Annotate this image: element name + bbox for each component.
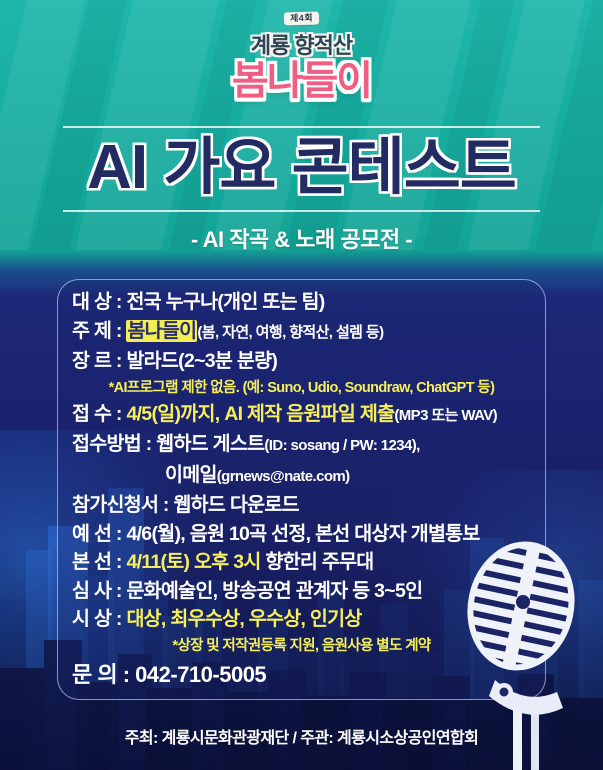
detail-value: 문화예술인, 방송공연 관계자 등 3~5인 <box>126 580 422 602</box>
detail-separator: : <box>158 494 173 516</box>
detail-row-target: 대 상 : 전국 누구나(개인 또는 팀) <box>0 288 603 317</box>
contact-label: 문 의 <box>72 662 117 687</box>
detail-label: 접 수 <box>72 400 111 429</box>
detail-row-genre: 장 르 : 발라드(2~3분 분량) <box>0 347 603 376</box>
logo-edition-badge: 제4회 <box>284 12 319 26</box>
detail-row-submission: 접 수 : 4/5(일)까지, AI 제작 음원파일 제출(MP3 또는 WAV… <box>0 400 603 431</box>
detail-label: 시 상 <box>72 605 111 634</box>
note-ai-programs: *AI프로그램 제한 없음. (예: Suno, Udio, Soundraw,… <box>0 376 603 400</box>
detail-separator: : <box>111 350 126 372</box>
detail-label: 심 사 <box>72 577 111 606</box>
detail-separator: : <box>141 433 156 455</box>
detail-value-note: (봄, 자연, 여행, 향적산, 설렘 등) <box>197 324 383 341</box>
page-title: AI 가요 콘테스트 <box>0 126 603 210</box>
event-logo: 제4회 계룡 향적산 봄나들이 <box>0 8 603 103</box>
detail-row-application-form: 참가신청서 : 웹하드 다운로드 <box>0 491 603 520</box>
detail-value-note: (grnews@nate.com) <box>217 468 350 485</box>
detail-value: 4/6(월), 음원 10곡 선정, 본선 대상자 개별통보 <box>126 523 479 545</box>
detail-value-accent: 4/11(토) 오후 3시 <box>126 551 260 573</box>
detail-value: 발라드(2~3분 분량) <box>126 350 277 372</box>
detail-label: 대 상 <box>72 288 111 317</box>
detail-separator: : <box>111 320 126 342</box>
detail-value-accent: 대상, 최우수상, 우수상, 인기상 <box>126 608 361 630</box>
detail-value: 웹하드 게스트 <box>156 433 264 455</box>
detail-value: 이메일 <box>165 464 217 486</box>
detail-separator: : <box>111 291 126 313</box>
detail-value: 전국 누구나(개인 또는 팀) <box>126 291 324 313</box>
page-subtitle: - AI 작곡 & 노래 공모전 - <box>0 222 603 254</box>
detail-separator: : <box>111 608 126 630</box>
poster-canvas: 제4회 계룡 향적산 봄나들이 AI 가요 콘테스트 - AI 작곡 & 노래 … <box>0 0 603 770</box>
detail-separator: : <box>111 551 126 573</box>
detail-value: 웹하드 다운로드 <box>173 494 298 516</box>
logo-region-text: 계룡 향적산 <box>0 28 603 60</box>
footer-organizers: 주최: 계룡시문화관광재단 / 주관: 계룡시소상공인연합회 <box>0 724 603 748</box>
detail-value-highlight: 봄나들이 <box>126 320 197 342</box>
detail-separator: : <box>111 523 126 545</box>
detail-value: 향한리 주무대 <box>261 551 374 573</box>
detail-label: 예 선 <box>72 520 111 549</box>
detail-value-accent: 4/5(일)까지, AI 제작 음원파일 제출 <box>126 403 394 425</box>
detail-label: 장 르 <box>72 347 111 376</box>
detail-separator: : <box>111 403 126 425</box>
detail-label: 본 선 <box>72 548 111 577</box>
detail-label: 주 제 <box>72 317 111 346</box>
detail-row-theme: 주 제 : 봄나들이(봄, 자연, 여행, 향적산, 설렘 등) <box>0 317 603 348</box>
detail-separator: : <box>111 580 126 602</box>
detail-row-submission-method: 접수방법 : 웹하드 게스트(ID: sosang / PW: 1234), <box>0 430 603 461</box>
detail-row-email: 이메일(grnews@nate.com) <box>0 461 603 492</box>
contact-separator: : <box>117 662 135 687</box>
title-rule-bottom <box>63 210 540 212</box>
detail-value-note: (MP3 또는 WAV) <box>394 407 497 424</box>
contact-phone-number: 042-710-5005 <box>135 662 266 687</box>
detail-label: 접수방법 <box>72 430 141 459</box>
detail-value-note: (ID: sosang / PW: 1234), <box>264 437 419 454</box>
detail-label: 참가신청서 <box>72 491 158 520</box>
logo-event-title: 봄나들이 <box>0 59 603 103</box>
